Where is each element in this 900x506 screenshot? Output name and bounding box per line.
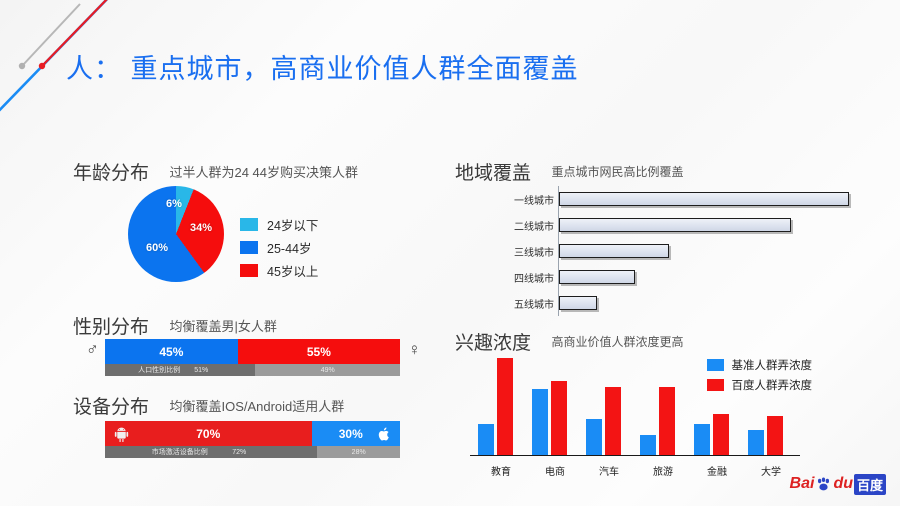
device-bar-android: 70% xyxy=(105,421,312,446)
interest-cat-ecommerce: 电商 xyxy=(530,463,580,478)
legend-swatch-baidu xyxy=(707,379,724,391)
region-bar-tier2 xyxy=(559,218,791,232)
region-bar-tier1 xyxy=(559,192,849,206)
gender-female-pct: 55% xyxy=(307,345,331,359)
region-section-title: 地域覆盖 xyxy=(455,158,531,185)
legend-item-under24: 24岁以下 xyxy=(240,213,318,236)
table-row: 二线城市 xyxy=(492,212,852,238)
device-sub-caption: 市场激活设备比例 xyxy=(152,447,208,457)
page-title: 人： 重点城市，高商业价值人群全面覆盖 xyxy=(66,47,579,86)
device-section-title: 设备分布 xyxy=(73,392,149,419)
device-android-pct: 70% xyxy=(196,427,220,441)
device-sub-ios-pct: 28% xyxy=(352,449,366,456)
device-split-bar: 70% 30% 市场激活设备比例 72% 28% xyxy=(105,421,400,458)
interest-group-university xyxy=(748,416,783,455)
device-bar-sub: 市场激活设备比例 72% 28% xyxy=(105,446,400,458)
region-label-tier2: 二线城市 xyxy=(492,218,559,233)
paw-icon xyxy=(815,476,832,492)
device-sub-android-pct: 72% xyxy=(232,449,246,456)
device-sub-android: 市场激活设备比例 72% xyxy=(105,446,317,458)
female-icon: ♀ xyxy=(408,340,421,360)
interest-subtitle: 高商业价值人群浓度更高 xyxy=(551,333,683,350)
legend-item-45plus: 45岁以上 xyxy=(240,259,318,282)
region-label-tier4: 四线城市 xyxy=(492,270,559,285)
region-subtitle: 重点城市网民高比例覆盖 xyxy=(551,163,683,180)
interest-column-chart: 教育 电商 汽车 旅游 金融 大学 基准人群弄浓度 百度人群弄浓度 xyxy=(470,355,810,480)
interest-group-finance xyxy=(694,414,729,455)
gender-bar-male: 45% xyxy=(105,339,238,364)
interest-bar-base-auto xyxy=(586,419,602,455)
interest-group-auto xyxy=(586,387,621,455)
legend-swatch-cyan xyxy=(240,218,258,231)
interest-bar-baidu-ecommerce xyxy=(551,381,567,455)
gender-section-heading: 性别分布 均衡覆盖男|女人群 xyxy=(73,312,277,339)
gender-subtitle: 均衡覆盖男|女人群 xyxy=(169,316,276,335)
gender-bar-female: 55% xyxy=(238,339,400,364)
device-bar-ios: 30% xyxy=(312,421,401,446)
table-row: 五线城市 xyxy=(492,290,852,316)
logo-du-text: du xyxy=(833,475,853,493)
interest-group-travel xyxy=(640,387,675,455)
interest-bar-base-education xyxy=(478,424,494,455)
interest-bar-baidu-education xyxy=(497,358,513,455)
gender-sub-caption: 人口性别比例 xyxy=(138,365,180,375)
gender-sub-male-pct: 51% xyxy=(194,367,208,374)
age-section-heading: 年龄分布 过半人群为24 44岁购买决策人群 xyxy=(73,158,358,185)
gender-split-bar: 45% 55% 人口性别比例 51% 49% xyxy=(105,339,400,376)
age-pie-chart: 6% 34% 60% xyxy=(128,186,224,282)
interest-cat-auto: 汽车 xyxy=(584,463,634,478)
interest-cat-university: 大学 xyxy=(746,463,796,478)
legend-item-baidu: 百度人群弄浓度 xyxy=(707,375,813,395)
interest-cat-finance: 金融 xyxy=(692,463,742,478)
interest-legend: 基准人群弄浓度 百度人群弄浓度 xyxy=(707,355,813,395)
gender-sub-female: 49% xyxy=(255,364,400,376)
android-icon xyxy=(113,425,130,443)
logo-cn-text: 百度 xyxy=(854,474,886,495)
age-section-title: 年龄分布 xyxy=(73,158,149,185)
interest-section-heading: 兴趣浓度 高商业价值人群浓度更高 xyxy=(455,328,683,355)
gender-section-title: 性别分布 xyxy=(73,312,149,339)
pie-label-25to44: 60% xyxy=(146,242,168,254)
slide-root: 人： 重点城市，高商业价值人群全面覆盖 年龄分布 过半人群为24 44岁购买决策… xyxy=(0,0,900,506)
legend-label-baidu: 百度人群弄浓度 xyxy=(732,377,813,393)
interest-bar-base-travel xyxy=(640,435,656,455)
region-label-tier1: 一线城市 xyxy=(492,192,559,207)
region-bar-tier5 xyxy=(559,296,597,310)
pie-label-45plus: 34% xyxy=(190,222,212,234)
legend-item-25to44: 25-44岁 xyxy=(240,236,318,259)
region-label-tier5: 五线城市 xyxy=(492,296,559,311)
interest-bar-baidu-university xyxy=(767,416,783,455)
interest-cat-travel: 旅游 xyxy=(638,463,688,478)
gender-sub-male: 人口性别比例 51% xyxy=(105,364,255,376)
age-legend: 24岁以下 25-44岁 45岁以上 xyxy=(240,213,318,282)
interest-baseline xyxy=(470,455,800,456)
region-bar-tier4 xyxy=(559,270,635,284)
legend-label-under24: 24岁以下 xyxy=(267,215,318,234)
device-subtitle: 均衡覆盖IOS/Android适用人群 xyxy=(169,396,344,415)
interest-bar-baidu-auto xyxy=(605,387,621,455)
gender-male-pct: 45% xyxy=(159,345,183,359)
logo-bai-text: Bai xyxy=(790,475,815,493)
apple-icon xyxy=(377,425,392,443)
interest-bar-base-finance xyxy=(694,424,710,455)
device-sub-ios: 28% xyxy=(317,446,400,458)
device-bar-main: 70% 30% xyxy=(105,421,400,446)
legend-swatch-baseline xyxy=(707,359,724,371)
region-bar-tier3 xyxy=(559,244,669,258)
interest-bar-baidu-travel xyxy=(659,387,675,455)
legend-label-25to44: 25-44岁 xyxy=(267,238,311,257)
interest-bar-baidu-finance xyxy=(713,414,729,455)
legend-item-baseline: 基准人群弄浓度 xyxy=(707,355,813,375)
table-row: 四线城市 xyxy=(492,264,852,290)
device-ios-pct: 30% xyxy=(339,427,363,441)
table-row: 三线城市 xyxy=(492,238,852,264)
male-icon: ♂ xyxy=(86,340,99,360)
pie-graphic: 6% 34% 60% xyxy=(128,186,224,282)
table-row: 一线城市 xyxy=(492,186,852,212)
interest-cat-education: 教育 xyxy=(476,463,526,478)
gender-bar-main: 45% 55% xyxy=(105,339,400,364)
gender-bar-sub: 人口性别比例 51% 49% xyxy=(105,364,400,376)
device-section-heading: 设备分布 均衡覆盖IOS/Android适用人群 xyxy=(73,392,344,419)
baidu-logo: Bai du 百度 xyxy=(790,474,886,494)
interest-bar-base-ecommerce xyxy=(532,389,548,455)
legend-swatch-blue xyxy=(240,241,258,254)
region-label-tier3: 三线城市 xyxy=(492,244,559,259)
age-subtitle: 过半人群为24 44岁购买决策人群 xyxy=(169,162,358,181)
gender-sub-female-pct: 49% xyxy=(321,367,335,374)
interest-bar-base-university xyxy=(748,430,764,455)
legend-label-baseline: 基准人群弄浓度 xyxy=(732,357,813,373)
legend-swatch-red xyxy=(240,264,258,277)
interest-group-ecommerce xyxy=(532,381,567,455)
interest-group-education xyxy=(478,358,513,455)
pie-label-under24: 6% xyxy=(166,198,182,210)
legend-label-45plus: 45岁以上 xyxy=(267,261,318,280)
region-bar-chart: 一线城市 二线城市 三线城市 四线城市 五线城市 xyxy=(492,186,852,316)
interest-section-title: 兴趣浓度 xyxy=(455,328,531,355)
region-section-heading: 地域覆盖 重点城市网民高比例覆盖 xyxy=(455,158,683,185)
